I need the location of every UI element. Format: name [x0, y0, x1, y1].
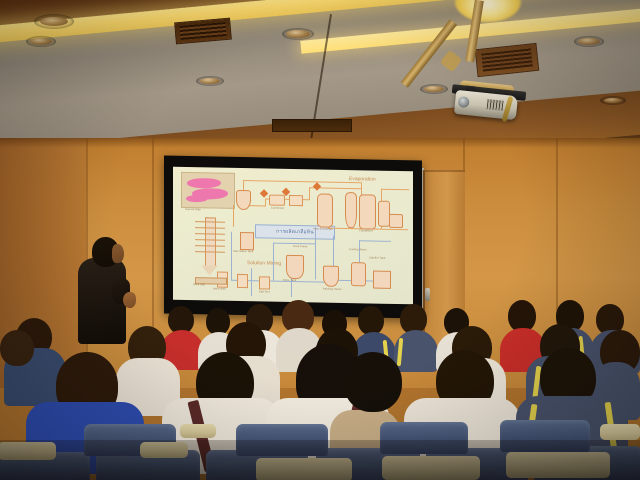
downlight-icon: [26, 36, 56, 47]
slide-unit: [373, 271, 391, 289]
slide-section-solution-mining: Solution Mining: [247, 260, 281, 267]
downlight-icon: [196, 76, 224, 86]
downlight-icon: [600, 96, 626, 105]
slide-unit: [289, 195, 303, 206]
door-handle[interactable]: [425, 288, 430, 301]
slide-unit-label: Rock Salt: [193, 283, 205, 286]
slide-unit: [236, 190, 251, 210]
downlight-icon: [282, 28, 314, 40]
slide-unit-label: Salt Bed: [259, 290, 270, 293]
slide-center-text: การผลิตเกลือหิน: [276, 228, 314, 237]
downlight-icon: [420, 84, 448, 94]
presenter-hand: [123, 292, 136, 308]
wall-seam: [152, 138, 154, 338]
slide-unit: [286, 255, 304, 279]
downlight-icon: [574, 36, 604, 47]
slide-unit-label: Condenser: [271, 207, 285, 210]
slide-column: [205, 217, 216, 267]
projector-vent-icon: [487, 99, 504, 111]
audience-head: [344, 352, 402, 412]
seat-tablet-arm[interactable]: [180, 424, 216, 438]
projected-slide: Deposit Map Evaporation Solution Mining …: [173, 167, 413, 305]
wall-speaker-vent: [272, 119, 352, 132]
floor-shadow: [0, 440, 640, 480]
slide-unit: [323, 266, 339, 287]
audience-head: [206, 308, 230, 335]
slide-unit: [351, 262, 366, 286]
presenter-face: [112, 244, 124, 263]
wall-shadow-band: [0, 138, 640, 148]
downlight-icon: [34, 14, 74, 29]
slide-unit-label: Crystallizer: [359, 229, 373, 232]
audience-head: [358, 306, 384, 335]
projector-lens-icon: [458, 96, 470, 108]
slide-unit-label: Raw Water Tank: [233, 250, 253, 253]
slide-unit: [317, 193, 333, 227]
seat-tablet-arm[interactable]: [600, 424, 640, 440]
slide-inset-label: Deposit Map: [185, 208, 201, 211]
lecture-hall-photo: Deposit Map Evaporation Solution Mining …: [0, 0, 640, 480]
slide-unit: [389, 214, 403, 228]
wall-seam: [556, 138, 558, 328]
slide-unit: [269, 195, 285, 206]
slide-valve-icon: [313, 182, 321, 190]
slide-unit: [237, 274, 248, 288]
slide-unit-label: Feed Pump: [293, 245, 307, 248]
slide-unit: [345, 192, 357, 228]
slide-unit-label: Brine Well: [213, 287, 226, 290]
slide-unit: [359, 194, 376, 229]
slide-map-inset: [181, 172, 235, 209]
projection-screen: Deposit Map Evaporation Solution Mining …: [164, 156, 422, 319]
slide-funnel: [201, 265, 218, 275]
slide-unit: [240, 232, 254, 250]
slide-unit: [259, 276, 270, 289]
slide-unit-label: Cooling Tower: [349, 248, 367, 251]
slide-unit-label: Clarifier Tank: [369, 256, 386, 259]
audience-head: [0, 330, 34, 366]
slide-unit-label: Brine Tank: [283, 279, 296, 282]
slide-unit-label: Packing House: [323, 288, 342, 291]
slide-unit-label: Heat Exchanger: [313, 227, 333, 230]
slide-valve-icon: [260, 189, 268, 197]
